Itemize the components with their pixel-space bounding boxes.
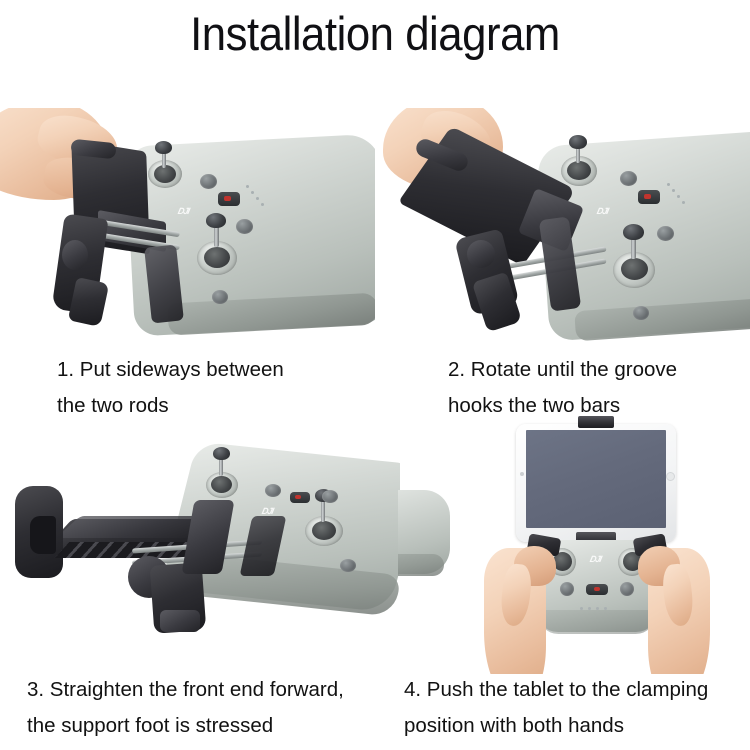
step-1-caption-line1: 1. Put sideways between (57, 358, 284, 381)
support-foot-hinge (62, 240, 88, 270)
step-4-caption-line1: 4. Push the tablet to the clamping (404, 678, 708, 701)
function-button (620, 582, 634, 596)
step-3-caption-line1: 3. Straighten the front end forward, (27, 678, 344, 701)
record-button (340, 559, 356, 572)
step-3-caption: 3. Straighten the front end forward, the… (27, 672, 344, 744)
tablet-home-button (666, 472, 675, 481)
led-indicator (580, 607, 583, 610)
led-indicator (667, 183, 670, 186)
joystick-left-inner (567, 161, 591, 180)
support-foot-tip (472, 272, 522, 333)
power-button (200, 174, 217, 189)
power-button (560, 582, 574, 596)
step-2-caption: 2. Rotate until the groove hooks the two… (448, 352, 677, 424)
dji-logo: DJI (596, 206, 609, 216)
joystick-right-inner (621, 258, 648, 280)
step-2-caption-line2: hooks the two bars (448, 388, 677, 424)
page-title: Installation diagram (26, 8, 724, 60)
led-indicator (672, 189, 675, 192)
record-button (633, 306, 649, 320)
led-indicator (596, 607, 599, 610)
step-1-photo: DJI (0, 108, 375, 348)
mode-switch-indicator (295, 495, 301, 499)
record-button (212, 290, 228, 304)
step-2-photo: DJI (375, 108, 750, 348)
function-button (322, 490, 338, 503)
joystick-left-knob (569, 135, 587, 149)
secondary-controller-edge-shadow (398, 554, 444, 576)
led-indicator (682, 201, 685, 204)
joystick-right-knob (206, 213, 226, 228)
joystick-right-knob (623, 224, 644, 240)
dji-logo: DJI (589, 554, 602, 564)
support-foot-hinge (467, 240, 495, 268)
step-1-caption: 1. Put sideways between the two rods (57, 352, 284, 424)
controller-bottom-shade (538, 610, 656, 634)
step-4-photo: DJI (398, 412, 750, 674)
joystick-left-inner (211, 476, 232, 493)
step-3-caption-line2: the support foot is stressed (27, 708, 344, 744)
joystick-right-inner (204, 247, 230, 268)
led-indicator (261, 203, 264, 206)
step-4-caption: 4. Push the tablet to the clamping posit… (404, 672, 708, 744)
mode-switch-indicator (594, 587, 600, 591)
function-button (236, 219, 253, 234)
step-3-photo: DJI (0, 424, 400, 674)
step-1-caption-line2: the two rods (57, 388, 284, 424)
dji-logo: DJI (177, 206, 190, 216)
function-button (657, 226, 674, 241)
power-button (265, 484, 281, 497)
joystick-left-knob (213, 447, 230, 460)
led-indicator (677, 195, 680, 198)
power-button (620, 171, 637, 186)
tablet-screen (526, 430, 666, 528)
mode-switch-indicator (644, 194, 651, 199)
led-indicator (604, 607, 607, 610)
led-indicator (588, 607, 591, 610)
tablet-bracket-lip-groove (30, 516, 56, 554)
step-2-caption-line1: 2. Rotate until the groove (448, 358, 677, 381)
led-indicator (251, 191, 254, 194)
mode-switch-indicator (224, 196, 231, 201)
dji-logo: DJI (261, 506, 274, 516)
led-indicator (256, 197, 259, 200)
step-4-caption-line2: position with both hands (404, 708, 708, 744)
tablet-camera (520, 472, 524, 476)
led-indicator (246, 185, 249, 188)
support-foot-tip (160, 610, 200, 632)
joystick-right-inner (312, 521, 336, 540)
joystick-left-knob (155, 141, 172, 154)
